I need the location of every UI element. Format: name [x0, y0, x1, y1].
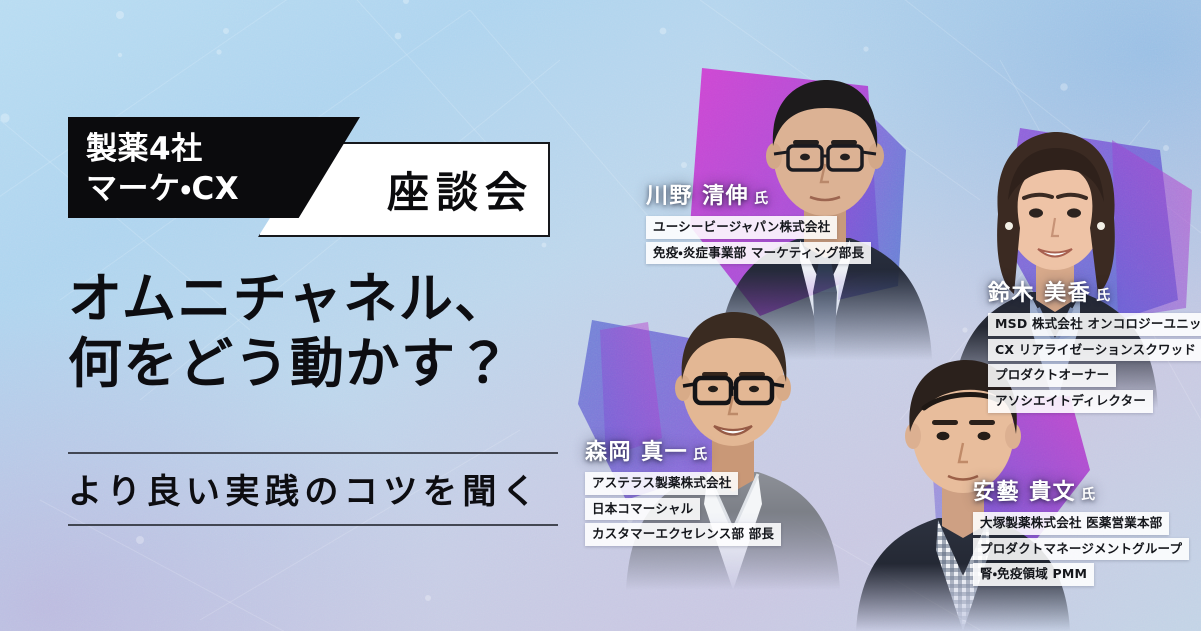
person-3-name: 森岡 真一氏 [585, 434, 781, 466]
person-3-affiliation-2: 日本コマーシャル [585, 498, 700, 521]
person-2-name-suffix: 氏 [1096, 288, 1110, 304]
person-3-affiliation-1: アステラス製薬株式会社 [585, 472, 738, 495]
person-2-affiliation-4: アソシエイトディレクター [988, 390, 1153, 413]
headline-line-2: 何をどう動かす？ [68, 333, 588, 396]
person-2-affiliation-2: CX リアライゼーションスクワッド [988, 339, 1201, 362]
person-4-name: 安藝 貴文氏 [973, 474, 1189, 506]
person-1-name: 川野 清伸氏 [646, 178, 871, 210]
subhead-rule-bottom [68, 524, 558, 526]
name-block-person-3: 森岡 真一氏 アステラス製薬株式会社 日本コマーシャル カスタマーエクセレンス部… [585, 434, 781, 549]
headline-line-1: オムニチャネル、 [68, 268, 588, 331]
promo-banner-canvas: 座談会 製薬4社 マーケ・CX オムニチャネル、 何をどう動かす？ より良い実践… [0, 0, 1201, 631]
main-headline: オムニチャネル、 何をどう動かす？ [68, 268, 588, 395]
person-4-affiliation-3: 腎・免疫領域 PMM [973, 563, 1094, 586]
name-block-person-4: 安藝 貴文氏 大塚製薬株式会社 医薬営業本部 プロダクトマネージメントグループ … [973, 474, 1189, 589]
zadankai-label: 座談会 [387, 159, 548, 220]
person-3-affiliation-3: カスタマーエクセレンス部 部長 [585, 523, 781, 546]
person-3-affiliations: アステラス製薬株式会社 日本コマーシャル カスタマーエクセレンス部 部長 [585, 472, 781, 549]
person-1-affiliations: ユーシービージャパン株式会社 免疫・炎症事業部 マーケティング部長 [646, 216, 871, 267]
person-2-affiliation-3: プロダクトオーナー [988, 364, 1116, 387]
person-1-affiliation-2: 免疫・炎症事業部 マーケティング部長 [646, 242, 871, 265]
person-1-name-suffix: 氏 [754, 191, 768, 207]
person-2-name: 鈴木 美香氏 [988, 275, 1201, 307]
person-4-affiliation-2: プロダクトマネージメントグループ [973, 538, 1189, 561]
category-tag-line2: マーケ・CX [86, 163, 239, 208]
subheadline: より良い実践のコツを聞く [68, 464, 588, 513]
person-3-name-suffix: 氏 [693, 447, 707, 463]
person-3-name-text: 森岡 真一 [585, 440, 688, 465]
person-2-affiliations: MSD 株式会社 オンコロジーユニット CX リアライゼーションスクワッド プロ… [988, 313, 1201, 416]
category-tag-line1: 製薬4社 [86, 123, 203, 168]
person-4-name-text: 安藝 貴文 [973, 480, 1076, 505]
person-1-affiliation-1: ユーシービージャパン株式会社 [646, 216, 837, 239]
subhead-rule-top [68, 452, 558, 454]
person-2-affiliation-1: MSD 株式会社 オンコロジーユニット [988, 313, 1201, 336]
person-2-name-text: 鈴木 美香 [988, 281, 1091, 306]
name-block-person-1: 川野 清伸氏 ユーシービージャパン株式会社 免疫・炎症事業部 マーケティング部長 [646, 178, 871, 267]
name-block-person-2: 鈴木 美香氏 MSD 株式会社 オンコロジーユニット CX リアライゼーションス… [988, 275, 1201, 416]
person-4-affiliation-1: 大塚製薬株式会社 医薬営業本部 [973, 512, 1169, 535]
person-4-affiliations: 大塚製薬株式会社 医薬営業本部 プロダクトマネージメントグループ 腎・免疫領域 … [973, 512, 1189, 589]
person-1-name-text: 川野 清伸 [646, 184, 749, 209]
person-4-name-suffix: 氏 [1081, 487, 1095, 503]
